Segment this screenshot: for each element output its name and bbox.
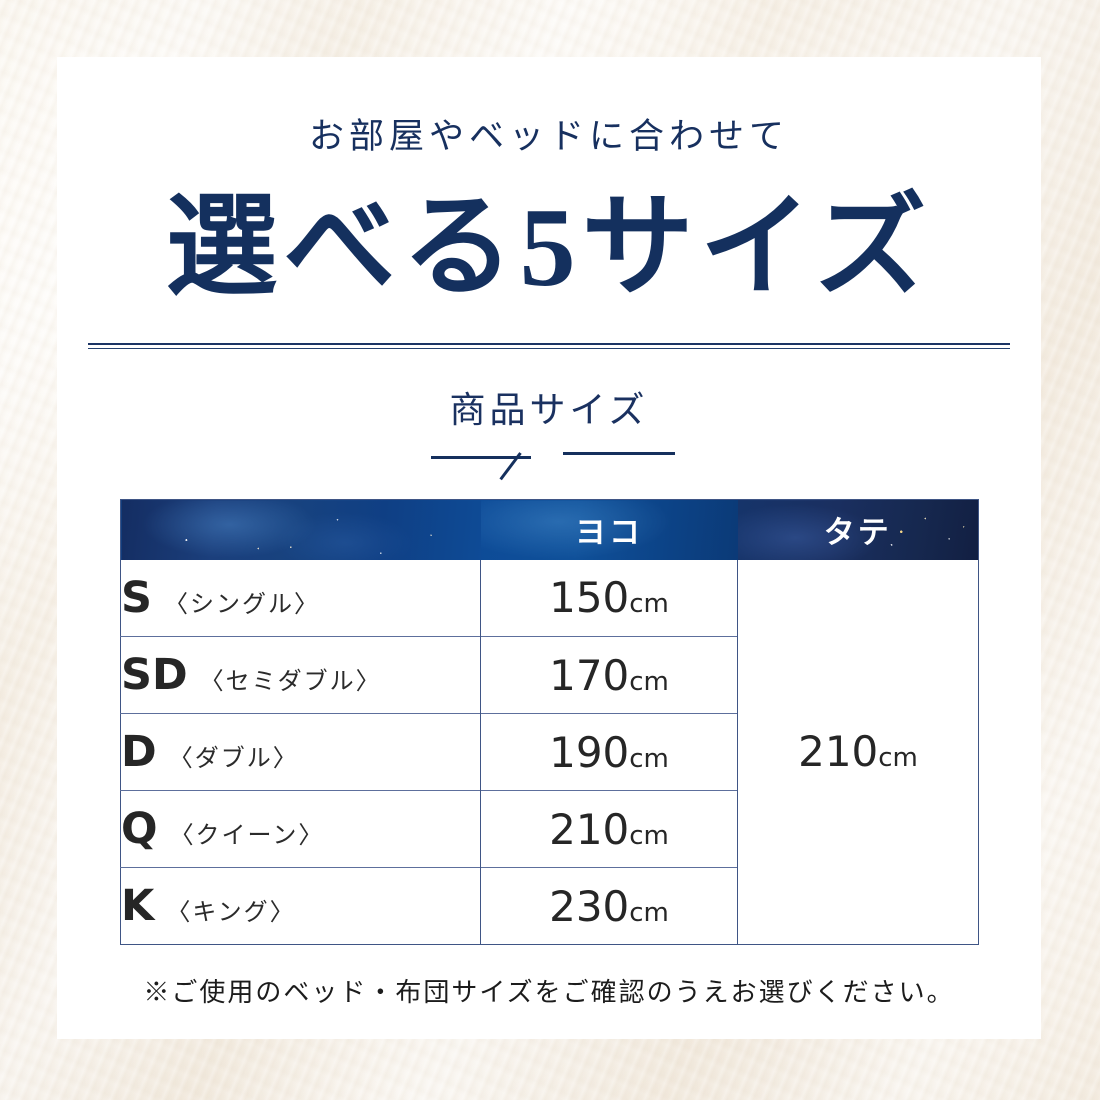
headline-title: 選べる5サイズ <box>57 188 1041 309</box>
yoko-unit: cm <box>629 821 669 851</box>
yoko-value: 210 <box>549 805 629 854</box>
column-header-yoko: ヨコ <box>481 500 738 560</box>
divider-line-top <box>88 343 1010 345</box>
headline-subtitle: お部屋やベッドに合わせて <box>57 119 1041 154</box>
footnote-text: ※ご使用のベッド・布団サイズをご確認のうえお選びください。 <box>57 972 1041 1009</box>
cell-size-name: Q〈クイーン〉 <box>121 791 481 868</box>
yoko-value: 190 <box>549 728 629 777</box>
yoko-value: 230 <box>549 882 629 931</box>
size-code: SD <box>121 650 188 700</box>
cell-yoko: 150cm <box>481 560 738 637</box>
product-size-table: ヨコ タテ S〈シングル〉 150cm 210cm SD〈セミダブル〉 <box>120 499 979 945</box>
yoko-measurement: 190cm <box>549 752 669 771</box>
cell-yoko: 190cm <box>481 714 738 791</box>
size-kana: 〈ダブル〉 <box>169 746 299 772</box>
table-row: S〈シングル〉 150cm 210cm <box>121 560 979 637</box>
yoko-measurement: 170cm <box>549 675 669 694</box>
table-header: ヨコ タテ <box>121 500 979 560</box>
cell-size-name: S〈シングル〉 <box>121 560 481 637</box>
yoko-unit: cm <box>629 589 669 619</box>
tate-unit: cm <box>878 743 918 773</box>
size-code: D <box>121 727 157 777</box>
cell-size-name: SD〈セミダブル〉 <box>121 637 481 714</box>
size-code: Q <box>121 804 158 854</box>
decorative-underline <box>423 447 675 479</box>
headline-block: お部屋やベッドに合わせて 選べる5サイズ <box>57 57 1041 309</box>
cell-yoko: 230cm <box>481 868 738 945</box>
cell-size-name: K〈キング〉 <box>121 868 481 945</box>
yoko-measurement: 210cm <box>549 829 669 848</box>
content-panel: お部屋やベッドに合わせて 選べる5サイズ 商品サイズ ヨコ タテ <box>57 57 1041 1039</box>
size-kana: 〈クイーン〉 <box>170 823 325 849</box>
yoko-measurement: 150cm <box>549 597 669 616</box>
table-body: S〈シングル〉 150cm 210cm SD〈セミダブル〉 170cm <box>121 560 979 945</box>
column-header-size-name <box>121 500 481 560</box>
divider-line-bottom <box>88 348 1010 349</box>
cell-yoko: 170cm <box>481 637 738 714</box>
size-code: K <box>121 881 154 931</box>
tate-measurement: 210cm <box>798 751 918 770</box>
size-code: S <box>121 573 152 623</box>
size-kana: 〈シングル〉 <box>164 592 320 618</box>
double-rule-divider <box>88 343 1010 350</box>
section-label-text: 商品サイズ <box>57 392 1041 428</box>
table-header-row: ヨコ タテ <box>121 500 979 560</box>
cell-tate-merged: 210cm <box>738 560 979 945</box>
yoko-unit: cm <box>629 667 669 697</box>
yoko-measurement: 230cm <box>549 906 669 925</box>
column-header-tate: タテ <box>738 500 979 560</box>
yoko-unit: cm <box>629 744 669 774</box>
yoko-unit: cm <box>629 898 669 928</box>
yoko-value: 150 <box>549 573 629 622</box>
cell-size-name: D〈ダブル〉 <box>121 714 481 791</box>
tate-value: 210 <box>798 727 878 776</box>
cell-yoko: 210cm <box>481 791 738 868</box>
yoko-value: 170 <box>549 651 629 700</box>
section-label-block: 商品サイズ <box>57 392 1041 479</box>
size-kana: 〈セミダブル〉 <box>200 669 382 695</box>
underline-segment-right <box>563 452 675 455</box>
size-kana: 〈キング〉 <box>166 900 295 926</box>
